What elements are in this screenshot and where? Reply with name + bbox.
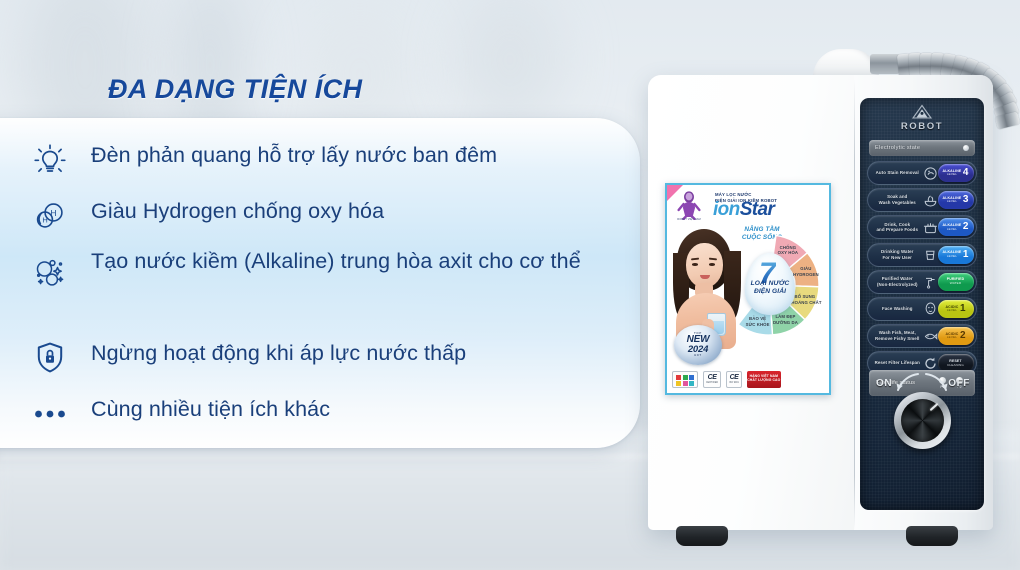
water-ionizer-device: ROBOT Electrolytic state Auto Stain Remo…	[648, 40, 1020, 570]
logo-pixel	[676, 375, 681, 380]
badge-sub: LEVEL	[947, 255, 957, 258]
badge-level-number: 2	[960, 331, 966, 341]
device-foot	[676, 526, 728, 546]
vegetable-icon	[923, 193, 938, 208]
logo-pixel	[683, 381, 688, 386]
logo-pixel	[683, 375, 688, 380]
mode-button-label: Purified Water (Non-Electrolyzed)	[868, 276, 923, 288]
water-types-wheel: CHỐNG OXY HÓAGIÀU HYDROGENBỔ SUNG KHOÁNG…	[729, 231, 831, 347]
hose-connector	[870, 54, 900, 74]
list-item-label: Cùng nhiều tiện ích khác	[91, 388, 330, 424]
power-knob-zone: ON OFF	[860, 360, 984, 480]
model-eye	[709, 263, 715, 266]
fish-icon	[923, 329, 938, 344]
badge-sub: LEVEL	[947, 336, 957, 339]
list-item: Đèn phản quang hỗ trợ lấy nước ban đêm	[28, 134, 614, 190]
list-item: Cùng nhiều tiện ích khác	[28, 388, 614, 444]
logo-pixel	[676, 381, 681, 386]
mascot-caption: ROBOT VIỆT NAM	[669, 218, 709, 221]
badge-sub: LEVEL	[947, 200, 957, 203]
model-brow	[709, 258, 717, 260]
ce-mark-sub: ISO 9001	[729, 382, 739, 385]
faucet-icon	[923, 274, 938, 289]
badge-level-number: 1	[960, 304, 966, 314]
mode-level-badge: ALKALINELEVEL3	[938, 191, 974, 209]
device-foot	[906, 526, 958, 546]
badge-sub: LEVEL	[947, 173, 957, 176]
badge-text-stack: ALKALINELEVEL	[943, 251, 962, 258]
certification-logo-ce: CECERTIFIED	[703, 371, 721, 388]
mode-button[interactable]: Soak and Wash VegetablesALKALINELEVEL3	[867, 188, 977, 212]
logo-pixel	[689, 381, 694, 386]
brand-name: ROBOT	[860, 121, 984, 132]
mode-button-label: Face Washing	[868, 306, 923, 312]
mode-level-badge: ACIDICLEVEL2	[938, 327, 974, 345]
ce-mark-text: CE	[730, 374, 739, 382]
electrolytic-state-display: Electrolytic state	[869, 140, 975, 156]
logo-pixel	[689, 375, 694, 380]
ce-mark-sub: CERTIFIED	[706, 382, 718, 385]
badge-sub: LEVEL	[947, 309, 957, 312]
robot-triangle-icon	[910, 104, 934, 120]
model-brow	[691, 258, 699, 260]
list-item-label: Giàu Hydrogen chống oxy hóa	[91, 190, 384, 226]
drop-line-1: LOẠI NƯỚC	[745, 280, 795, 287]
device-seam	[854, 80, 855, 530]
mode-button-label: Drink, Cook and Prepare Foods	[868, 222, 923, 234]
badge-text-stack: ACIDICLEVEL	[945, 306, 958, 313]
face-icon	[923, 301, 938, 316]
knob-face	[901, 399, 944, 442]
badge-text-stack: ALKALINELEVEL	[943, 197, 962, 204]
list-item: Tạo nước kiềm (Alkaline) trung hòa axit …	[28, 246, 614, 332]
mode-button[interactable]: Face WashingACIDICLEVEL1	[867, 297, 977, 321]
mode-button[interactable]: Wash Fish, Meat, Remove Fishy SmellACIDI…	[867, 324, 977, 348]
mode-level-badge: ALKALINELEVEL4	[938, 164, 974, 182]
certification-logo-vietnam: HÀNG VIỆT NAM CHẤT LƯỢNG CAO	[747, 371, 781, 388]
list-item: Ngừng hoạt động khi áp lực nước thấp	[28, 332, 614, 388]
mode-level-badge: ACIDICLEVEL1	[938, 300, 974, 318]
badge-level-number: 4	[963, 168, 969, 178]
mode-button-label: Soak and Wash Vegetables	[868, 194, 923, 206]
mode-button-list: Auto Stain RemovalALKALINELEVEL4Soak and…	[867, 161, 977, 375]
certification-logo-ce: CEISO 9001	[726, 371, 742, 388]
badge-level-number: 3	[963, 195, 969, 205]
badge-text-stack: ALKALINELEVEL	[943, 170, 962, 177]
badge-text-stack: ALKALINELEVEL	[943, 224, 962, 231]
certification-logo-color	[672, 371, 698, 388]
list-item-label: Ngừng hoạt động khi áp lực nước thấp	[91, 332, 466, 368]
svg-text:H: H	[42, 216, 47, 225]
electrolytic-state-label: Electrolytic state	[875, 145, 963, 151]
badge-text-stack: ACIDICLEVEL	[945, 333, 958, 340]
robot-mascot-icon	[674, 190, 704, 220]
hydrogen-molecule-icon: H H	[28, 194, 72, 238]
list-item: H H Giàu Hydrogen chống oxy hóa	[28, 190, 614, 246]
mode-button[interactable]: Auto Stain RemovalALKALINELEVEL4	[867, 161, 977, 185]
badge-sub: WATER	[950, 282, 961, 285]
mode-button-label: Wash Fish, Meat, Remove Fishy Smell	[868, 330, 923, 342]
badge-text-stack: PURIFIEDWATER	[947, 278, 965, 285]
wheel-segment-label: BẢO VỆ SỨC KHỎE	[736, 316, 780, 327]
ce-mark-text: CE	[708, 374, 717, 382]
knob-off-label: OFF	[948, 378, 970, 389]
knob-on-label: ON	[876, 378, 892, 389]
feature-card: Đèn phản quang hỗ trợ lấy nước ban đêm H…	[0, 118, 640, 448]
svg-text:H: H	[50, 208, 56, 218]
mode-level-badge: PURIFIEDWATER	[938, 273, 974, 291]
page-title: ĐA DẠNG TIỆN ÍCH	[108, 74, 362, 105]
model-eye	[692, 263, 698, 266]
sticker-brand-name: ionStar	[713, 200, 774, 219]
badge-sub: LEVEL	[947, 228, 957, 231]
badge-level-number: 1	[963, 250, 969, 260]
new-2024-badge: TOP NEW 2024 HOT	[674, 325, 722, 365]
mode-level-badge: ALKALINELEVEL1	[938, 246, 974, 264]
badge-level-number: 2	[963, 222, 969, 232]
power-knob[interactable]	[894, 392, 951, 449]
mode-button[interactable]: Purified Water (Non-Electrolyzed)PURIFIE…	[867, 270, 977, 294]
drop-line-2: ĐIỆN GIẢI	[745, 288, 795, 295]
electrolytic-state-indicator	[963, 145, 969, 151]
list-item-label: Đèn phản quang hỗ trợ lấy nước ban đêm	[91, 134, 497, 170]
model-mouth	[700, 275, 710, 279]
mode-button-label: Drinking Water For New User	[868, 249, 923, 261]
new-badge-bottom: HOT	[694, 355, 702, 358]
mode-button-label: Auto Stain Removal	[868, 170, 923, 176]
product-label-sticker: ROBOT VIỆT NAM MÁY LỌC NƯỚC ĐIỆN GIẢI IO…	[665, 183, 831, 395]
pot-icon	[923, 220, 938, 235]
lightbulb-icon	[28, 138, 72, 182]
mode-button[interactable]: Drink, Cook and Prepare FoodsALKALINELEV…	[867, 215, 977, 239]
shield-lock-icon	[28, 336, 72, 380]
model-face	[686, 243, 723, 288]
brand-ion-text: ion	[713, 199, 740, 220]
spray-icon	[923, 166, 938, 181]
mode-level-badge: ALKALINELEVEL2	[938, 218, 974, 236]
certification-logos: CECERTIFIEDCEISO 9001HÀNG VIỆT NAM CHẤT …	[672, 369, 828, 389]
brand-logo: ROBOT	[860, 104, 984, 132]
bubbles-sparkle-icon	[28, 250, 72, 294]
mode-button[interactable]: Drinking Water For New UserALKALINELEVEL…	[867, 243, 977, 267]
ellipsis-icon	[28, 392, 72, 436]
list-item-label: Tạo nước kiềm (Alkaline) trung hòa axit …	[91, 246, 581, 276]
brand-star-text: Star	[740, 199, 775, 220]
knob-position-indicator	[930, 403, 939, 411]
cup-icon	[923, 247, 938, 262]
feature-list: Đèn phản quang hỗ trợ lấy nước ban đêm H…	[28, 134, 614, 444]
